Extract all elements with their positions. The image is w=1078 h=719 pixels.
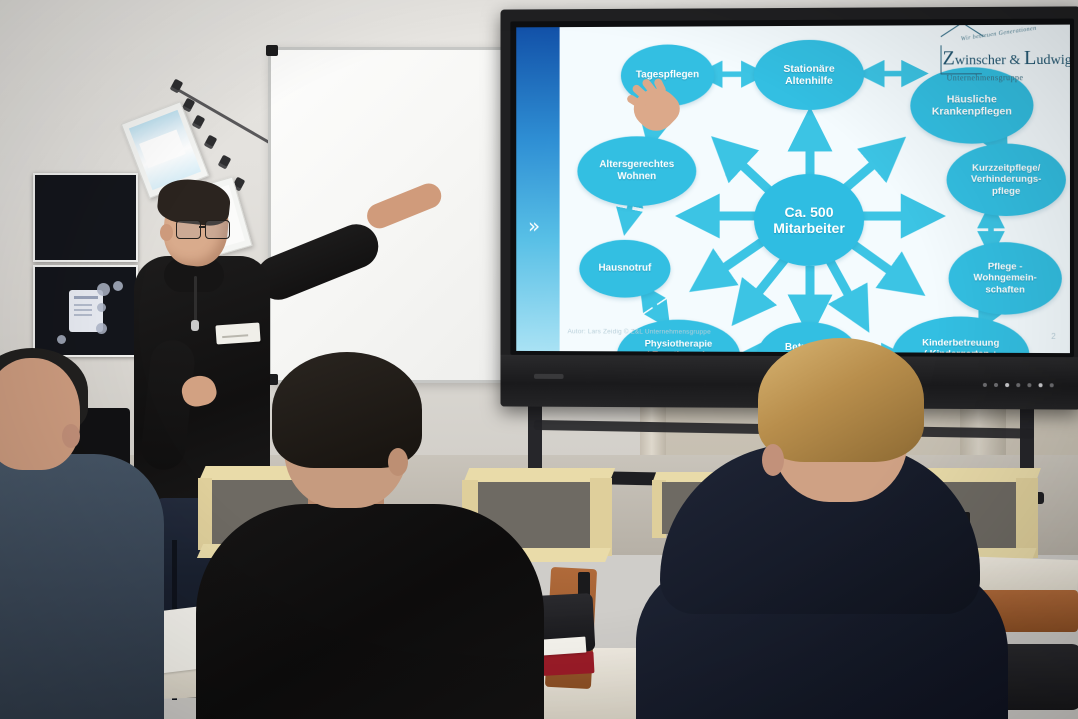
- presenter-upper-arm: [250, 218, 385, 307]
- presenter-name-badge: [215, 322, 260, 344]
- slide-footer-credit: Autor: Lars Zeidig © Z&L Unternehmensgru…: [568, 328, 711, 335]
- led-indicator: [1050, 383, 1054, 387]
- chevron-right-icon: »: [528, 216, 540, 236]
- presenter-ear: [160, 224, 173, 241]
- led-indicator: [1027, 383, 1031, 387]
- display-screen[interactable]: »: [516, 25, 1070, 354]
- led-indicator: [1039, 383, 1043, 387]
- node-label: Häusliche Krankenpflegen: [932, 93, 1012, 118]
- student-center: [236, 368, 536, 719]
- display-bezel: »: [510, 19, 1074, 358]
- diagram-canvas: Tagespflegen Stationäre Altenhilfe Häusl…: [560, 25, 1070, 354]
- diagram-node-hausnotruf: Hausnotruf: [579, 240, 670, 298]
- node-label: Hausnotruf: [598, 263, 651, 275]
- slide-page-number: 2: [1051, 332, 1056, 341]
- ir-sensor: [534, 374, 564, 379]
- node-label: Ca. 500 Mitarbeiter: [773, 204, 845, 237]
- student-left-head: [0, 358, 80, 470]
- diagram-node-kurzzeitpflege: Kurzzeitpflege/ Verhinderungs- pflege: [947, 144, 1066, 217]
- student-left-ear: [62, 424, 80, 448]
- node-label: Stationäre Altenhilfe: [783, 63, 834, 88]
- logo-ampersand: &: [1009, 53, 1020, 68]
- slide-side-strip: »: [516, 27, 559, 351]
- logo-ludwig: udwig: [1036, 53, 1070, 68]
- diagram-node-center-mitarbeiter: Ca. 500 Mitarbeiter: [754, 174, 864, 266]
- interactive-display[interactable]: »: [500, 6, 1078, 409]
- node-label: Kurzzeitpflege/ Verhinderungs- pflege: [971, 163, 1041, 196]
- company-logo: Wir betreuen Generationen Zwinscher & Lu…: [936, 29, 1065, 96]
- presenter-zipper: [194, 276, 197, 322]
- diagram-node-pflege-wohngemeinschaften: Pflege - Wohngemein- schaften: [949, 242, 1062, 315]
- node-label: Physiotherapie / Ergotherapie / Logopädi…: [645, 339, 713, 353]
- logo-l: L: [1024, 47, 1036, 69]
- presenter-zipper-pull: [191, 320, 199, 331]
- student-center-torso: [196, 504, 544, 719]
- student-right-hair: [758, 338, 924, 462]
- logo-wordmark: Zwinscher & Ludwig: [943, 47, 1070, 71]
- node-label: Altersgerechtes Wohnen: [599, 160, 674, 183]
- student-right: [640, 352, 1020, 719]
- student-center-ear: [388, 448, 408, 476]
- student-right-ear: [762, 444, 784, 476]
- diagram-node-stationaere-altenhilfe: Stationäre Altenhilfe: [754, 40, 864, 110]
- logo-zwinscher: winscher: [955, 53, 1006, 68]
- logo-subtitle: Unternehmensgruppe: [947, 73, 1024, 82]
- logo-z: Z: [943, 47, 955, 69]
- student-left: [0, 358, 152, 719]
- glasses-icon: [176, 220, 230, 238]
- diagram-node-altersgerechtes-wohnen: Altersgerechtes Wohnen: [577, 136, 696, 206]
- node-label: Kinderbetreuung ( Kindergarten + Hort ): [922, 338, 999, 353]
- student-left-torso: [0, 454, 164, 719]
- node-label: Pflege - Wohngemein- schaften: [973, 262, 1036, 295]
- presentation-slide: »: [516, 25, 1070, 354]
- classroom-scene: »: [0, 0, 1078, 719]
